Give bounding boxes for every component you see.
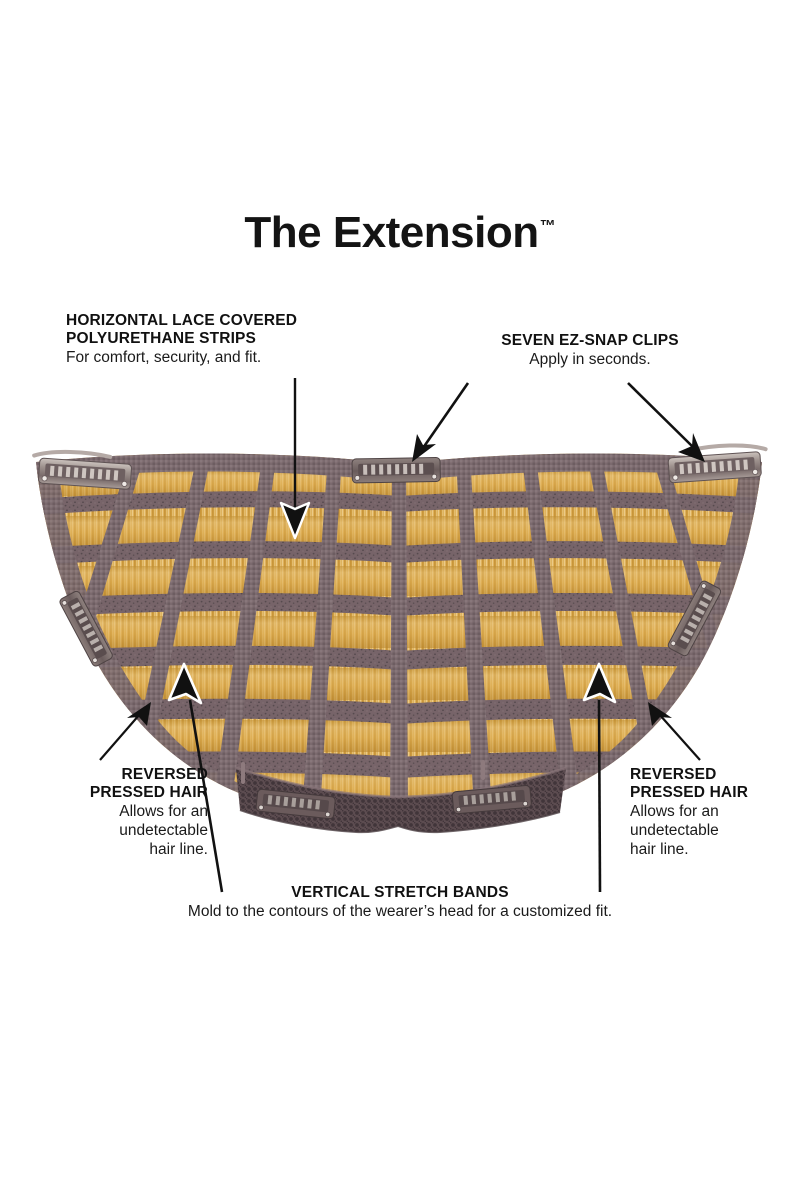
vertical-stretch-bands	[58, 455, 734, 818]
callout-heading: HORIZONTAL LACE COVERED POLYURETHANE STR…	[66, 312, 366, 348]
arrow-reversed-right	[648, 702, 700, 760]
clip-side-right	[667, 580, 722, 657]
page-title-wrap: The Extension™	[0, 208, 800, 258]
top-binding	[34, 450, 764, 482]
callout-subtext: For comfort, security, and fit.	[66, 348, 366, 367]
arrow-clips-left	[412, 383, 468, 462]
page-title: The Extension™	[244, 208, 555, 258]
clip-bottom-left	[256, 789, 336, 819]
clip-bottom-right	[452, 785, 532, 814]
callout-heading: REVERSED PRESSED HAIR	[18, 766, 208, 802]
callout-subtext: Allows for an undetectable hair line.	[630, 802, 800, 859]
callout-heading: REVERSED PRESSED HAIR	[630, 766, 800, 802]
callout-seven-ez-snap-clips: SEVEN EZ-SNAP CLIPS Apply in seconds.	[455, 332, 725, 369]
page-title-text: The Extension	[244, 208, 538, 257]
callout-vertical-stretch-bands: VERTICAL STRETCH BANDS Mold to the conto…	[100, 884, 700, 921]
clip-top-center	[352, 457, 440, 483]
arrow-reversed-left	[100, 702, 151, 760]
callout-heading: VERTICAL STRETCH BANDS	[100, 884, 700, 902]
clip-side-left	[59, 590, 114, 667]
bottom-mesh-band	[236, 760, 566, 832]
callout-subtext: Allows for an undetectable hair line.	[18, 802, 208, 859]
callout-heading: SEVEN EZ-SNAP CLIPS	[455, 332, 725, 350]
clip-top-left	[32, 449, 132, 489]
ez-snap-clips	[32, 443, 767, 819]
callout-subtext: Apply in seconds.	[455, 350, 725, 369]
callout-horizontal-lace-strips: HORIZONTAL LACE COVERED POLYURETHANE STR…	[66, 312, 366, 367]
callout-reversed-pressed-hair-left: REVERSED PRESSED HAIR Allows for an unde…	[18, 766, 208, 859]
product-illustration	[0, 0, 800, 1200]
arrow-lace-strips	[281, 378, 309, 538]
trademark-symbol: ™	[540, 218, 556, 235]
arrow-bands-right	[584, 664, 615, 892]
callout-subtext: Mold to the contours of the wearer’s hea…	[100, 902, 700, 921]
page-root: The Extension™ HORIZONTAL LACE COVERED P…	[0, 0, 800, 1200]
clip-top-right	[667, 443, 767, 483]
callout-reversed-pressed-hair-right: REVERSED PRESSED HAIR Allows for an unde…	[630, 766, 800, 859]
arrow-clips-right	[628, 383, 705, 462]
